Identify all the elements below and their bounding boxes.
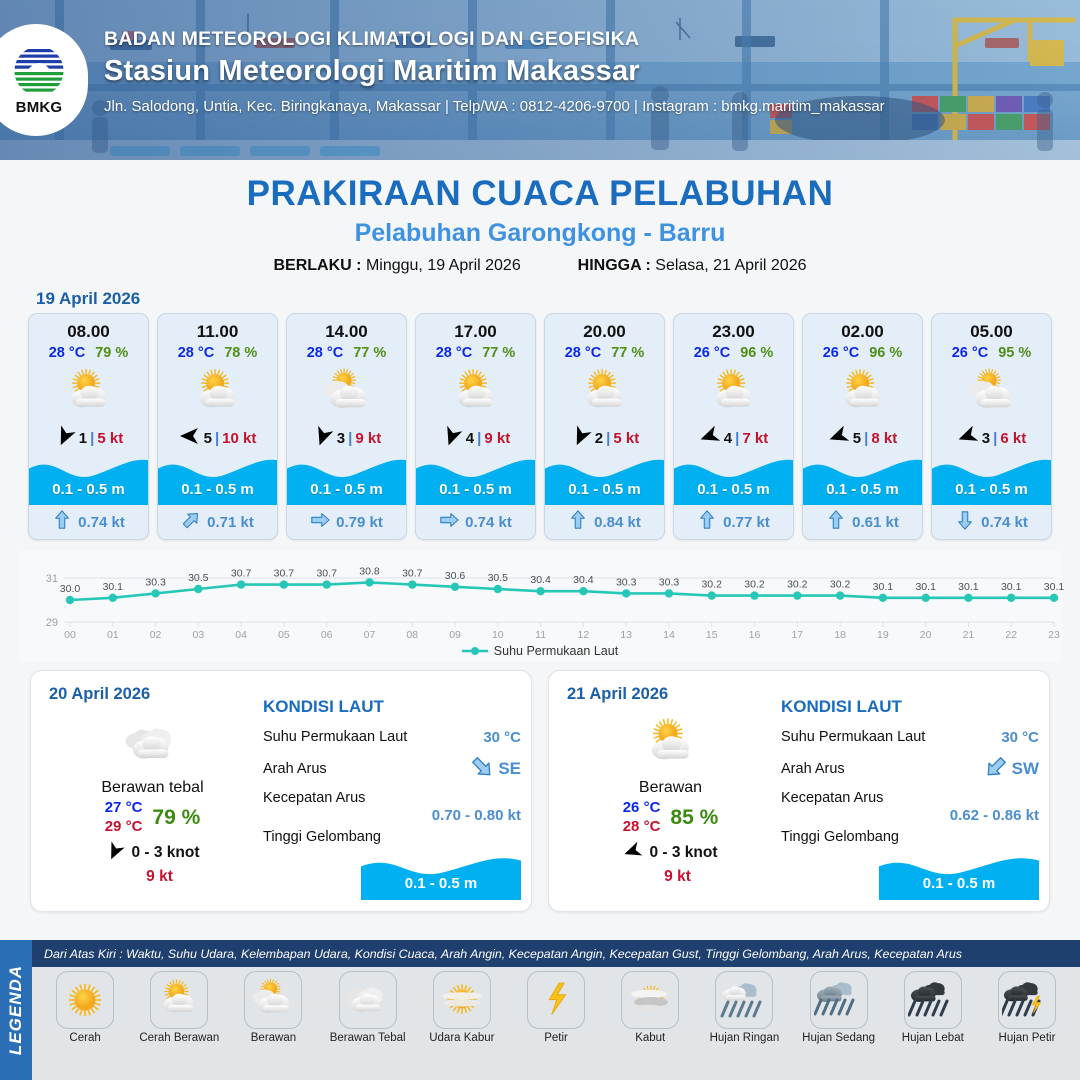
- card-time: 11.00: [158, 314, 277, 342]
- legend-item: Cerah: [38, 971, 132, 1044]
- svg-text:15: 15: [706, 629, 718, 641]
- legend-item: Petir: [509, 971, 603, 1044]
- card-wave: 0.1 - 0.5 m: [287, 453, 406, 505]
- cerah-berawan-icon: [563, 713, 778, 775]
- legend-item-label: Udara Kabur: [415, 1032, 509, 1044]
- forecast-card: 14.00 28 °C 77 %: [286, 313, 407, 540]
- wind-separator: |: [993, 430, 997, 447]
- card-temperature: 28 °C: [307, 345, 343, 361]
- svg-text:31: 31: [46, 573, 58, 585]
- wind-separator: |: [864, 430, 868, 447]
- card-temperature: 26 °C: [694, 345, 730, 361]
- wind-separator: |: [735, 430, 739, 447]
- legend-item-label: Petir: [509, 1032, 603, 1044]
- page-header: BMKG BADAN METEOROLOGI KLIMATOLOGI DAN G…: [0, 0, 1080, 160]
- card-gust: 10 kt: [222, 430, 256, 447]
- card-wind-speed: 5: [853, 430, 861, 447]
- hujan-ringan-icon: [715, 971, 773, 1029]
- card-wind-speed: 3: [982, 430, 990, 447]
- current-direction-arrow-icon: [826, 510, 846, 534]
- cerah-berawan-icon: [674, 363, 793, 423]
- current-speed-value: 0.62 - 0.86 kt: [781, 807, 1039, 824]
- svg-text:30.2: 30.2: [701, 579, 722, 591]
- card-current-speed: 0.74 kt: [981, 514, 1028, 531]
- card-current: 0.74 kt: [29, 505, 148, 539]
- panel-gust: 9 kt: [577, 868, 778, 886]
- svg-text:20: 20: [920, 629, 932, 641]
- card-gust: 9 kt: [355, 430, 381, 447]
- panel-condition: Berawan tebal: [45, 779, 260, 797]
- svg-text:10: 10: [492, 629, 504, 641]
- legend-item: Berawan Tebal: [321, 971, 415, 1044]
- card-current: 0.77 kt: [674, 505, 793, 539]
- card-wind: 4 | 7 kt: [674, 423, 793, 453]
- panel-current-arrow-icon: [984, 755, 1008, 784]
- card-current-speed: 0.61 kt: [852, 514, 899, 531]
- sst-chart: 3129000102030405060708091011121314151617…: [18, 550, 1062, 662]
- card-wave-height: 0.1 - 0.5 m: [545, 481, 664, 498]
- wind-direction-arrow-icon: [828, 425, 850, 451]
- card-temperature: 26 °C: [952, 345, 988, 361]
- wind-direction-arrow-icon: [699, 425, 721, 451]
- svg-text:16: 16: [749, 629, 761, 641]
- current-speed-label: Kecepatan Arus: [781, 790, 883, 806]
- sea-condition-title: KONDISI LAUT: [263, 697, 521, 717]
- berawan-icon: [244, 971, 302, 1029]
- card-temp-humidity: 26 °C 96 %: [674, 345, 793, 361]
- svg-text:30.7: 30.7: [316, 568, 337, 580]
- svg-text:30.2: 30.2: [830, 579, 851, 591]
- legend-section: LEGENDA Dari Atas Kiri : Waktu, Suhu Uda…: [0, 940, 1080, 1080]
- card-wave-height: 0.1 - 0.5 m: [158, 481, 277, 498]
- legend-item: Berawan: [226, 971, 320, 1044]
- card-current-speed: 0.74 kt: [78, 514, 125, 531]
- legend-item: Hujan Ringan: [697, 971, 791, 1044]
- legend-item: Hujan Petir: [980, 971, 1074, 1044]
- card-wave: 0.1 - 0.5 m: [158, 453, 277, 505]
- card-gust: 5 kt: [97, 430, 123, 447]
- svg-text:22: 22: [1005, 629, 1017, 641]
- svg-text:08: 08: [406, 629, 418, 641]
- current-direction-arrow-icon: [955, 510, 975, 534]
- svg-text:30.7: 30.7: [274, 568, 295, 580]
- svg-text:30.1: 30.1: [873, 581, 894, 593]
- bmkg-logo-icon: [13, 45, 65, 97]
- svg-text:30.5: 30.5: [488, 572, 509, 584]
- card-wave-height: 0.1 - 0.5 m: [416, 481, 535, 498]
- panel-wind-direction-arrow-icon: [623, 841, 643, 866]
- hourly-forecast-row: 08.00 28 °C 79 % 1: [0, 313, 1080, 540]
- card-temp-humidity: 28 °C 77 %: [287, 345, 406, 361]
- station-name: Stasiun Meteorologi Maritim Makassar: [104, 55, 1064, 88]
- panel-wave-value: 0.1 - 0.5 m: [879, 875, 1039, 892]
- legend-item: Hujan Lebat: [886, 971, 980, 1044]
- svg-text:30.6: 30.6: [445, 570, 466, 582]
- card-humidity: 77 %: [353, 345, 386, 361]
- card-wind-speed: 2: [595, 430, 603, 447]
- cerah-berawan-icon: [150, 971, 208, 1029]
- card-temp-humidity: 28 °C 77 %: [545, 345, 664, 361]
- svg-text:19: 19: [877, 629, 889, 641]
- cerah-icon: [56, 971, 114, 1029]
- card-gust: 6 kt: [1000, 430, 1026, 447]
- card-wind-speed: 4: [724, 430, 732, 447]
- legend-item: Cerah Berawan: [132, 971, 226, 1044]
- legend-item-label: Hujan Lebat: [886, 1032, 980, 1044]
- svg-text:30.1: 30.1: [1044, 581, 1065, 593]
- sst-value: 30 °C: [1001, 729, 1039, 746]
- kabut-icon: [621, 971, 679, 1029]
- legend-item-label: Hujan Ringan: [697, 1032, 791, 1044]
- card-gust: 5 kt: [613, 430, 639, 447]
- title-section: PRAKIRAAN CUACA PELABUHAN Pelabuhan Garo…: [0, 160, 1080, 275]
- legend-item-label: Berawan: [226, 1032, 320, 1044]
- svg-text:30.4: 30.4: [573, 574, 594, 586]
- panel-date: 21 April 2026: [567, 685, 668, 704]
- card-wave-height: 0.1 - 0.5 m: [29, 481, 148, 498]
- card-gust: 7 kt: [742, 430, 768, 447]
- card-current: 0.71 kt: [158, 505, 277, 539]
- card-wave: 0.1 - 0.5 m: [29, 453, 148, 505]
- card-wave: 0.1 - 0.5 m: [416, 453, 535, 505]
- hujan-lebat-icon: [904, 971, 962, 1029]
- legend-item-label: Berawan Tebal: [321, 1032, 415, 1044]
- card-gust: 9 kt: [484, 430, 510, 447]
- panel-wind-range: 0 - 3 knot: [131, 844, 199, 862]
- forecast-card: 08.00 28 °C 79 % 1: [28, 313, 149, 540]
- panel-temp-min: 27 °C: [105, 799, 143, 818]
- card-humidity: 95 %: [998, 345, 1031, 361]
- svg-text:23: 23: [1048, 629, 1060, 641]
- wind-direction-arrow-icon: [179, 425, 201, 451]
- wind-separator: |: [606, 430, 610, 447]
- current-direction-label: Arah Arus: [781, 761, 845, 777]
- card-temperature: 26 °C: [823, 345, 859, 361]
- svg-text:30.2: 30.2: [787, 579, 808, 591]
- svg-text:18: 18: [834, 629, 846, 641]
- legend-item-label: Hujan Petir: [980, 1032, 1074, 1044]
- sst-label: Suhu Permukaan Laut: [781, 729, 925, 745]
- forecast-card: 05.00 26 °C 95 %: [931, 313, 1052, 540]
- svg-text:30.7: 30.7: [402, 568, 423, 580]
- daily-forecast-row: 20 April 2026: [0, 662, 1080, 912]
- card-humidity: 77 %: [482, 345, 515, 361]
- wind-separator: |: [90, 430, 94, 447]
- legend-item-label: Cerah: [38, 1032, 132, 1044]
- legend-marker-icon: [462, 646, 488, 656]
- cerah-berawan-icon: [158, 363, 277, 423]
- panel-gust: 9 kt: [59, 868, 260, 886]
- svg-text:30.1: 30.1: [915, 581, 936, 593]
- card-wind-speed: 4: [466, 430, 474, 447]
- panel-wave-value: 0.1 - 0.5 m: [361, 875, 521, 892]
- panel-temp-min: 26 °C: [623, 799, 661, 818]
- card-humidity: 77 %: [611, 345, 644, 361]
- hingga-value: Selasa, 21 April 2026: [655, 257, 806, 274]
- legend-item: Hujan Sedang: [792, 971, 886, 1044]
- chart-legend-label: Suhu Permukaan Laut: [494, 644, 618, 658]
- card-wind-speed: 1: [79, 430, 87, 447]
- wind-separator: |: [477, 430, 481, 447]
- card-temp-humidity: 26 °C 96 %: [803, 345, 922, 361]
- card-humidity: 79 %: [95, 345, 128, 361]
- card-wind-speed: 3: [337, 430, 345, 447]
- card-wave-height: 0.1 - 0.5 m: [287, 481, 406, 498]
- legend-tab: LEGENDA: [0, 940, 32, 1080]
- panel-current-arrow-icon: [470, 755, 494, 784]
- card-wind: 1 | 5 kt: [29, 423, 148, 453]
- forecast-card: 17.00 28 °C 77 % 4: [415, 313, 536, 540]
- card-current-speed: 0.79 kt: [336, 514, 383, 531]
- cerah-berawan-icon: [29, 363, 148, 423]
- card-temperature: 28 °C: [436, 345, 472, 361]
- card-humidity: 96 %: [869, 345, 902, 361]
- card-time: 05.00: [932, 314, 1051, 342]
- wave-height-label: Tinggi Gelombang: [781, 829, 899, 845]
- card-current: 0.74 kt: [416, 505, 535, 539]
- panel-date: 20 April 2026: [49, 685, 150, 704]
- svg-text:30.1: 30.1: [103, 581, 124, 593]
- card-current-speed: 0.74 kt: [465, 514, 512, 531]
- wind-direction-arrow-icon: [54, 425, 76, 451]
- card-humidity: 96 %: [740, 345, 773, 361]
- card-wave-height: 0.1 - 0.5 m: [803, 481, 922, 498]
- udara-kabur-icon: [433, 971, 491, 1029]
- svg-text:30.3: 30.3: [616, 576, 637, 588]
- svg-text:06: 06: [321, 629, 333, 641]
- bmkg-logo-text: BMKG: [16, 99, 63, 116]
- card-wind: 5 | 8 kt: [803, 423, 922, 453]
- panel-condition: Berawan: [563, 779, 778, 797]
- daily-forecast-panel: 21 April 2026 Berawan 26 °: [548, 670, 1050, 912]
- berlaku-value: Minggu, 19 April 2026: [366, 257, 521, 274]
- card-time: 02.00: [803, 314, 922, 342]
- card-wave: 0.1 - 0.5 m: [545, 453, 664, 505]
- panel-wind-range: 0 - 3 knot: [649, 844, 717, 862]
- wind-direction-arrow-icon: [312, 425, 334, 451]
- contact-info: Jln. Salodong, Untia, Kec. Biringkanaya,…: [104, 98, 1064, 115]
- card-time: 23.00: [674, 314, 793, 342]
- card-wind: 3 | 9 kt: [287, 423, 406, 453]
- hujan-petir-icon: [998, 971, 1056, 1029]
- card-current: 0.79 kt: [287, 505, 406, 539]
- card-temp-humidity: 28 °C 77 %: [416, 345, 535, 361]
- chart-legend: Suhu Permukaan Laut: [28, 644, 1052, 658]
- current-speed-value: 0.70 - 0.80 kt: [263, 807, 521, 824]
- svg-text:30.3: 30.3: [659, 576, 680, 588]
- svg-text:30.3: 30.3: [145, 576, 166, 588]
- card-time: 08.00: [29, 314, 148, 342]
- wind-direction-arrow-icon: [570, 425, 592, 451]
- berawan-icon: [932, 363, 1051, 423]
- petir-icon: [527, 971, 585, 1029]
- forecast-card: 20.00 28 °C 77 % 2: [544, 313, 665, 540]
- current-direction-arrow-icon: [310, 510, 330, 534]
- forecast-card: 02.00 26 °C 96 % 5: [802, 313, 923, 540]
- card-temp-humidity: 26 °C 95 %: [932, 345, 1051, 361]
- panel-humidity: 79 %: [152, 806, 200, 830]
- forecast-card: 23.00 26 °C 96 % 4: [673, 313, 794, 540]
- page-title: PRAKIRAAN CUACA PELABUHAN: [0, 174, 1080, 214]
- svg-text:13: 13: [620, 629, 632, 641]
- current-speed-label: Kecepatan Arus: [263, 790, 365, 806]
- legend-item-label: Cerah Berawan: [132, 1032, 226, 1044]
- wave-height-label: Tinggi Gelombang: [263, 829, 381, 845]
- svg-text:30.2: 30.2: [744, 579, 765, 591]
- svg-text:17: 17: [791, 629, 803, 641]
- card-time: 20.00: [545, 314, 664, 342]
- port-name: Pelabuhan Garongkong - Barru: [0, 219, 1080, 248]
- card-wave: 0.1 - 0.5 m: [674, 453, 793, 505]
- svg-text:30.5: 30.5: [188, 572, 209, 584]
- svg-text:30.1: 30.1: [1001, 581, 1022, 593]
- svg-text:30.0: 30.0: [60, 583, 81, 595]
- card-wind: 5 | 10 kt: [158, 423, 277, 453]
- panel-temp-max: 28 °C: [623, 818, 661, 837]
- current-direction-arrow-icon: [52, 510, 72, 534]
- svg-text:03: 03: [193, 629, 205, 641]
- card-wave-height: 0.1 - 0.5 m: [932, 481, 1051, 498]
- card-gust: 8 kt: [871, 430, 897, 447]
- card-temperature: 28 °C: [49, 345, 85, 361]
- forecast-date-label: 19 April 2026: [36, 289, 1080, 309]
- wind-separator: |: [215, 430, 219, 447]
- card-wind: 3 | 6 kt: [932, 423, 1051, 453]
- svg-text:04: 04: [235, 629, 247, 641]
- current-direction-value: SE: [470, 755, 521, 784]
- current-direction-arrow-icon: [568, 510, 588, 534]
- card-temp-humidity: 28 °C 78 %: [158, 345, 277, 361]
- panel-wave: 0.1 - 0.5 m: [879, 852, 1039, 900]
- cerah-berawan-icon: [545, 363, 664, 423]
- card-current: 0.74 kt: [932, 505, 1051, 539]
- daily-forecast-panel: 20 April 2026: [30, 670, 532, 912]
- card-wind-speed: 5: [204, 430, 212, 447]
- svg-text:11: 11: [535, 629, 546, 641]
- hingga-label: HINGGA :: [578, 257, 651, 274]
- card-wave-height: 0.1 - 0.5 m: [674, 481, 793, 498]
- legend-item-label: Hujan Sedang: [792, 1032, 886, 1044]
- card-current: 0.61 kt: [803, 505, 922, 539]
- svg-text:29: 29: [46, 617, 58, 629]
- svg-text:12: 12: [578, 629, 590, 641]
- panel-temp-max: 29 °C: [105, 818, 143, 837]
- legend-item: Kabut: [603, 971, 697, 1044]
- card-wind: 4 | 9 kt: [416, 423, 535, 453]
- sst-value: 30 °C: [483, 729, 521, 746]
- legend-tab-label: LEGENDA: [6, 965, 26, 1055]
- panel-wind-direction-arrow-icon: [105, 841, 125, 866]
- card-current-speed: 0.84 kt: [594, 514, 641, 531]
- svg-text:30.7: 30.7: [231, 568, 252, 580]
- berlaku-label: BERLAKU :: [274, 257, 362, 274]
- svg-text:01: 01: [107, 629, 119, 641]
- svg-text:07: 07: [364, 629, 376, 641]
- card-temperature: 28 °C: [565, 345, 601, 361]
- svg-text:30.1: 30.1: [958, 581, 979, 593]
- validity-period: BERLAKU : Minggu, 19 April 2026 HINGGA :…: [0, 257, 1080, 275]
- panel-humidity: 85 %: [670, 806, 718, 830]
- current-direction-arrow-icon: [439, 510, 459, 534]
- card-current: 0.84 kt: [545, 505, 664, 539]
- current-direction-label: Arah Arus: [263, 761, 327, 777]
- svg-text:00: 00: [64, 629, 76, 641]
- svg-text:05: 05: [278, 629, 290, 641]
- panel-wave: 0.1 - 0.5 m: [361, 852, 521, 900]
- cerah-berawan-icon: [416, 363, 535, 423]
- card-time: 14.00: [287, 314, 406, 342]
- wind-direction-arrow-icon: [441, 425, 463, 451]
- forecast-card: 11.00 28 °C 78 % 5: [157, 313, 278, 540]
- svg-text:14: 14: [663, 629, 675, 641]
- card-wave: 0.1 - 0.5 m: [932, 453, 1051, 505]
- berawan-tebal-icon: [45, 713, 260, 775]
- hujan-sedang-icon: [810, 971, 868, 1029]
- svg-text:30.4: 30.4: [530, 574, 551, 586]
- current-direction-arrow-icon: [181, 510, 201, 534]
- card-current-speed: 0.77 kt: [723, 514, 770, 531]
- berawan-icon: [287, 363, 406, 423]
- svg-text:21: 21: [963, 629, 975, 641]
- svg-text:09: 09: [449, 629, 461, 641]
- cerah-berawan-icon: [803, 363, 922, 423]
- legend-note: Dari Atas Kiri : Waktu, Suhu Udara, Kele…: [32, 940, 1080, 967]
- card-time: 17.00: [416, 314, 535, 342]
- wind-direction-arrow-icon: [957, 425, 979, 451]
- card-temp-humidity: 28 °C 79 %: [29, 345, 148, 361]
- svg-text:30.8: 30.8: [359, 565, 380, 577]
- wind-separator: |: [348, 430, 352, 447]
- berawan-tebal-icon: [339, 971, 397, 1029]
- current-direction-arrow-icon: [697, 510, 717, 534]
- card-wave: 0.1 - 0.5 m: [803, 453, 922, 505]
- sea-condition-title: KONDISI LAUT: [781, 697, 1039, 717]
- legend-item: Udara Kabur: [415, 971, 509, 1044]
- card-humidity: 78 %: [224, 345, 257, 361]
- sst-label: Suhu Permukaan Laut: [263, 729, 407, 745]
- legend-item-label: Kabut: [603, 1032, 697, 1044]
- card-wind: 2 | 5 kt: [545, 423, 664, 453]
- organization-name: BADAN METEOROLOGI KLIMATOLOGI DAN GEOFIS…: [104, 28, 1064, 51]
- legend-icon-list: Cerah Cerah Berawan: [32, 967, 1080, 1044]
- card-temperature: 28 °C: [178, 345, 214, 361]
- svg-text:02: 02: [150, 629, 162, 641]
- current-direction-value: SW: [984, 755, 1039, 784]
- card-current-speed: 0.71 kt: [207, 514, 254, 531]
